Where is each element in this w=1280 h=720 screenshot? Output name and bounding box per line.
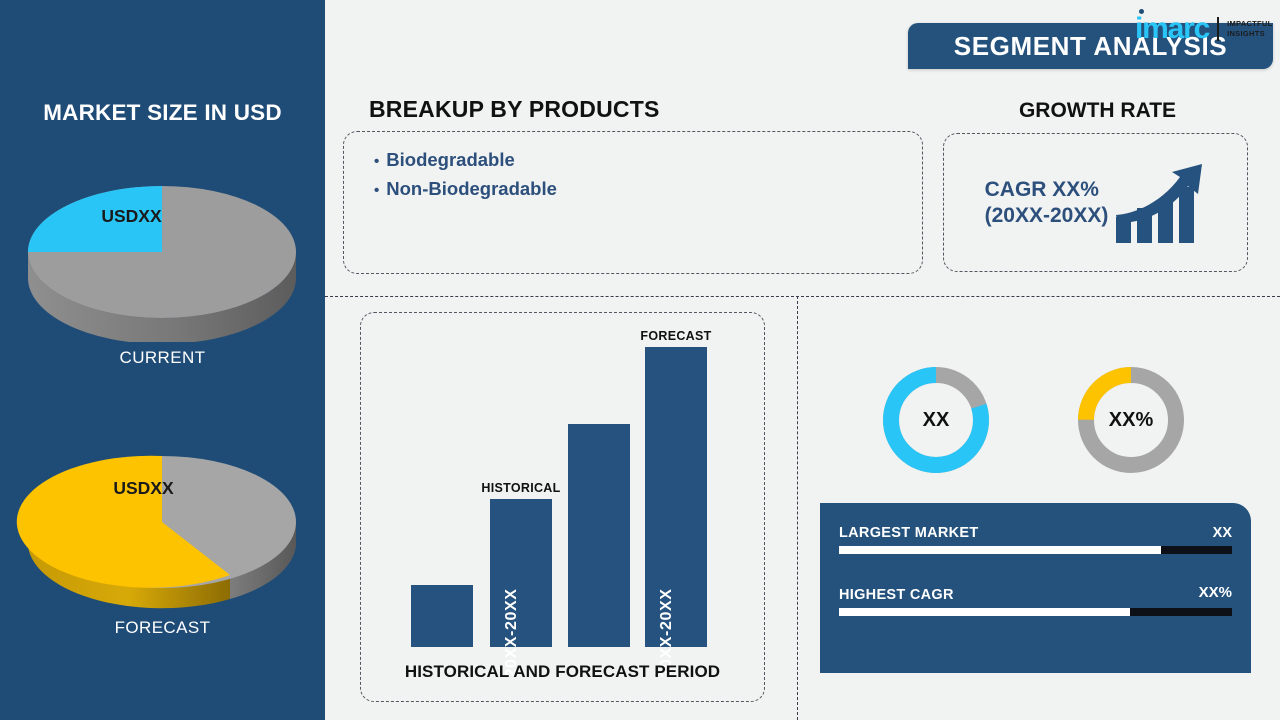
bar-2-top-label: HISTORICAL [481,481,560,495]
forecast-pie-caption: FORECAST [0,618,325,638]
cagr-line-2: (20XX-20XX) [985,203,1109,229]
stat-row-highest-cagr: HIGHEST CAGR XX% [839,584,1232,616]
bar-chart-caption: HISTORICAL AND FORECAST PERIOD [360,662,765,682]
donut-1-label: XX [879,363,993,477]
logo-tagline-line2: INSIGHTS [1227,29,1272,39]
largest-market-value: XX [1213,525,1232,541]
growth-rate-heading: GROWTH RATE [940,99,1255,123]
current-pie-svg [0,160,325,342]
forecast-pie-svg [0,430,325,612]
logo-divider [1217,17,1219,41]
largest-market-head: LARGEST MARKET XX [839,525,1232,541]
logo-tagline-line1: IMPACTFUL [1227,19,1272,29]
product-label: Non-Biodegradable [386,175,557,204]
bar-1 [411,585,473,647]
growth-rate-card: CAGR XX% (20XX-20XX) [943,133,1248,272]
growth-arrow-bars-icon [1114,161,1206,245]
product-label: Biodegradable [386,146,515,175]
market-size-panel: MARKET SIZE IN USD [0,0,325,720]
highest-cagr-progress-track [839,608,1232,616]
bar-4: FORECAST 20XX-20XX [645,347,707,647]
products-list: • Biodegradable • Non-Biodegradable [344,132,922,204]
highest-cagr-value: XX% [1199,584,1232,601]
donut-chart-1: XX [879,363,993,477]
imarc-logo-tagline: IMPACTFUL INSIGHTS [1227,19,1272,39]
largest-market-progress-track [839,546,1232,554]
horizontal-divider [325,296,1280,297]
cagr-text: CAGR XX% (20XX-20XX) [985,177,1109,228]
list-item: • Biodegradable [374,146,922,175]
bar-4-top-label: FORECAST [640,329,711,343]
historical-forecast-bar-chart: HISTORICAL 20XX-20XX FORECAST 20XX-20XX … [360,312,765,702]
bullet-icon: • [374,154,379,169]
key-stats-panel: LARGEST MARKET XX HIGHEST CAGR XX% [820,503,1251,673]
cagr-line-1: CAGR XX% [985,177,1109,203]
imarc-logo-text: imarc [1135,12,1209,45]
list-item: • Non-Biodegradable [374,175,922,204]
products-heading: BREAKUP BY PRODUCTS [369,96,660,123]
largest-market-progress-fill [839,546,1161,554]
forecast-pie-chart: USDXX [0,430,325,612]
highest-cagr-head: HIGHEST CAGR XX% [839,584,1232,603]
donut-2-label: XX% [1074,363,1188,477]
current-pie-chart: USDXX [0,160,325,342]
highest-cagr-progress-fill [839,608,1130,616]
current-pie-block: USDXX CURRENT [0,160,325,368]
bullet-icon: • [374,183,379,198]
infographic-canvas: MARKET SIZE IN USD [0,0,1280,720]
current-pie-caption: CURRENT [0,348,325,368]
growth-rate-content: CAGR XX% (20XX-20XX) [944,134,1247,271]
bar-2: HISTORICAL 20XX-20XX [490,499,552,647]
imarc-logo: imarc IMPACTFUL INSIGHTS [1135,14,1273,44]
highest-cagr-label: HIGHEST CAGR [839,587,954,603]
stat-row-largest-market: LARGEST MARKET XX [839,525,1232,554]
products-card: • Biodegradable • Non-Biodegradable [343,131,923,274]
vertical-divider [797,296,798,720]
bar-3 [568,424,630,647]
largest-market-label: LARGEST MARKET [839,525,979,541]
logo-dot-icon [1139,9,1144,14]
donut-chart-2: XX% [1074,363,1188,477]
forecast-pie-block: USDXX FORECAST [0,430,325,638]
market-size-title: MARKET SIZE IN USD [0,100,325,126]
imarc-logo-wordmark: imarc [1135,14,1209,44]
